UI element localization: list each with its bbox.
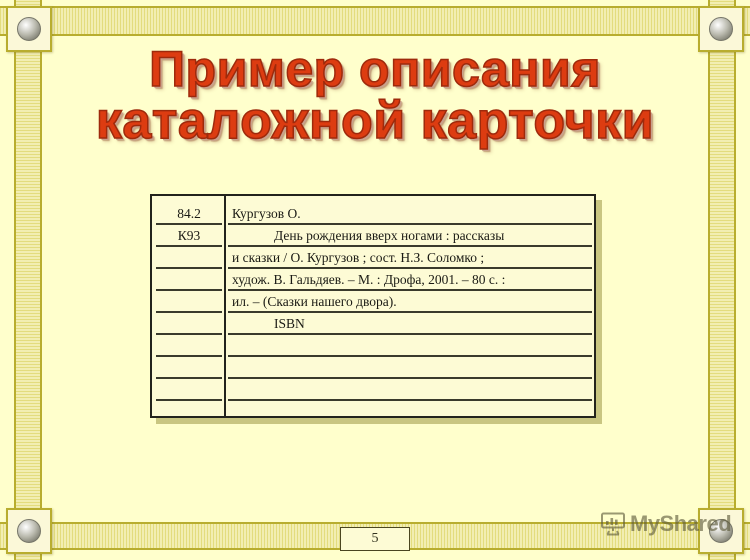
card-rule-right — [228, 399, 592, 401]
page-title: Пример описания каталожной карточки — [0, 44, 750, 148]
title-line-2: каталожной карточки — [0, 95, 750, 148]
card-call-number: 84.2 — [156, 206, 222, 222]
card-body-line: худож. В. Гальдяев. – М. : Дрофа, 2001. … — [232, 272, 505, 288]
corner-top-left — [6, 6, 52, 52]
card-rule-left — [156, 377, 222, 379]
frame-band-top — [0, 6, 750, 36]
frame-band-right — [708, 0, 736, 560]
page-number: 5 — [372, 531, 379, 547]
card-rule-left — [156, 333, 222, 335]
page-number-box: 5 — [340, 527, 410, 551]
card-rule-right — [228, 333, 592, 335]
card-body-line: и сказки / О. Кургузов ; сост. Н.З. Соло… — [232, 250, 484, 266]
card-rule-right — [228, 267, 592, 269]
sphere-icon — [17, 17, 41, 41]
card-body-line: Кургузов О. — [232, 206, 301, 222]
card-rule-right — [228, 289, 592, 291]
card-body-line: День рождения вверх ногами : рассказы — [274, 228, 504, 244]
corner-top-right — [698, 6, 744, 52]
card-rule-left — [156, 267, 222, 269]
slide: Пример описания каталожной карточки Кург… — [0, 0, 750, 560]
sphere-icon — [17, 519, 41, 543]
sphere-icon — [709, 519, 733, 543]
card-rule-left — [156, 311, 222, 313]
catalogue-card: Кургузов О.День рождения вверх ногами : … — [150, 194, 596, 418]
card-call-number: К93 — [156, 228, 222, 244]
corner-bottom-right — [698, 508, 744, 554]
card-rule-right — [228, 377, 592, 379]
title-line-1: Пример описания — [0, 44, 750, 95]
card-rule-right — [228, 223, 592, 225]
card-column-divider — [224, 196, 226, 416]
frame-band-left — [14, 0, 42, 560]
sphere-icon — [709, 17, 733, 41]
card-rule-right — [228, 245, 592, 247]
card-body-line: ISBN — [274, 316, 305, 332]
card-rule-left — [156, 223, 222, 225]
card-body-line: ил. – (Сказки нашего двора). — [232, 294, 397, 310]
card-rule-left — [156, 289, 222, 291]
card-rule-right — [228, 355, 592, 357]
card-rule-left — [156, 399, 222, 401]
card-rule-right — [228, 311, 592, 313]
card-rule-left — [156, 355, 222, 357]
corner-bottom-left — [6, 508, 52, 554]
card-rule-left — [156, 245, 222, 247]
